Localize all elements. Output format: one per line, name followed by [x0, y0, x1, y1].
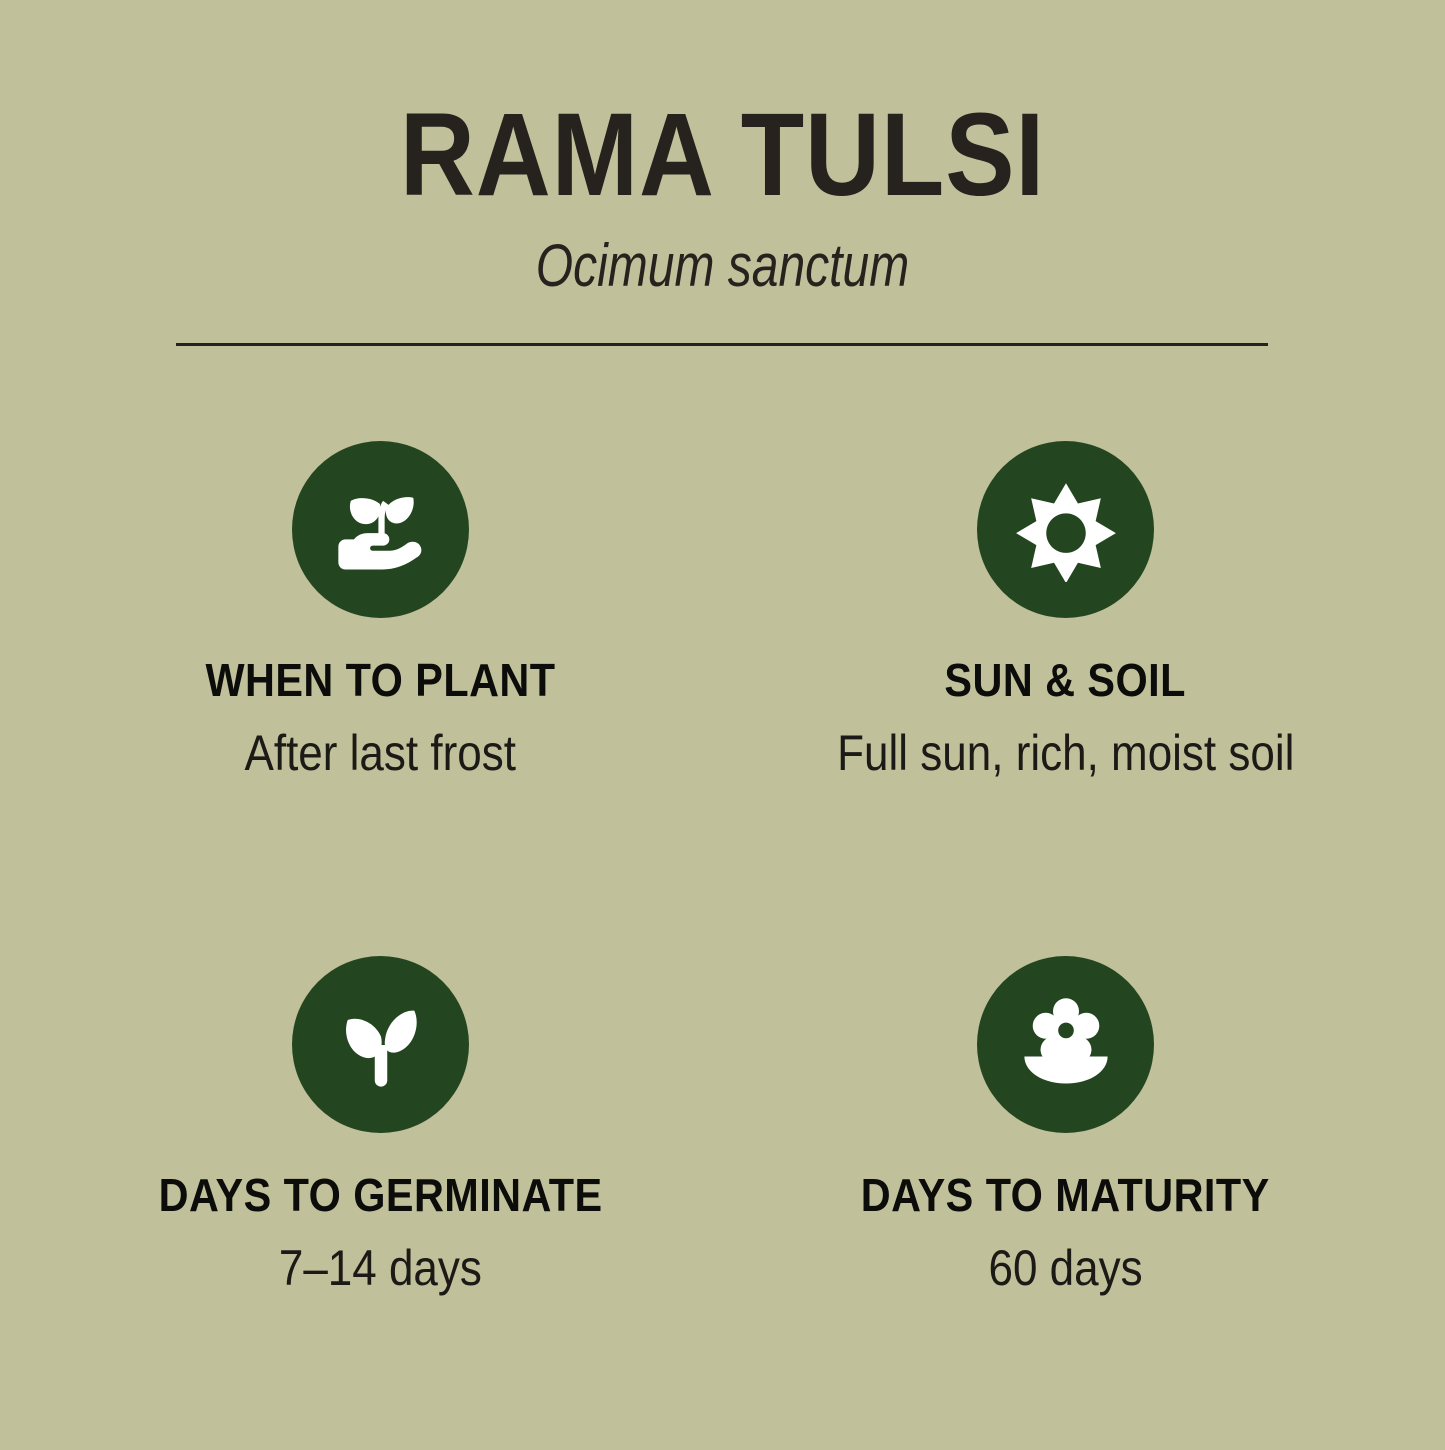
icon-badge-days-to-maturity — [977, 956, 1154, 1133]
fact-label: WHEN TO PLANT — [205, 618, 555, 703]
fact-cell-sun-and-soil: SUN & SOIL Full sun, rich, moist soil — [723, 420, 1408, 935]
latin-name-subtitle: Ocimum sanctum — [145, 214, 1301, 296]
flower-icon — [1014, 993, 1118, 1097]
fact-value: Full sun, rich, moist soil — [837, 703, 1294, 778]
card-header: RAMA TULSI Ocimum sanctum — [0, 0, 1445, 296]
fact-value: After last frost — [245, 703, 516, 778]
fact-value: 60 days — [988, 1218, 1142, 1293]
sun-icon — [1014, 478, 1118, 582]
fact-label: DAYS TO MATURITY — [861, 1133, 1270, 1218]
page-title: RAMA TULSI — [87, 0, 1359, 214]
fact-label: DAYS TO GERMINATE — [159, 1133, 603, 1218]
fact-cell-days-to-maturity: DAYS TO MATURITY 60 days — [723, 935, 1408, 1450]
seed-packet-info-card: RAMA TULSI Ocimum sanctum — [0, 0, 1445, 1445]
hand-holding-seedling-icon — [329, 478, 433, 582]
fact-value: 7–14 days — [279, 1218, 482, 1293]
sprout-icon — [329, 993, 433, 1097]
icon-badge-days-to-germinate — [292, 956, 469, 1133]
fact-cell-days-to-germinate: DAYS TO GERMINATE 7–14 days — [38, 935, 723, 1450]
fact-cell-when-to-plant: WHEN TO PLANT After last frost — [38, 420, 723, 935]
header-divider — [176, 343, 1268, 346]
icon-badge-when-to-plant — [292, 441, 469, 618]
fact-label: SUN & SOIL — [945, 618, 1186, 703]
facts-grid: WHEN TO PLANT After last frost SUN & SOI… — [38, 420, 1408, 1450]
icon-badge-sun-and-soil — [977, 441, 1154, 618]
